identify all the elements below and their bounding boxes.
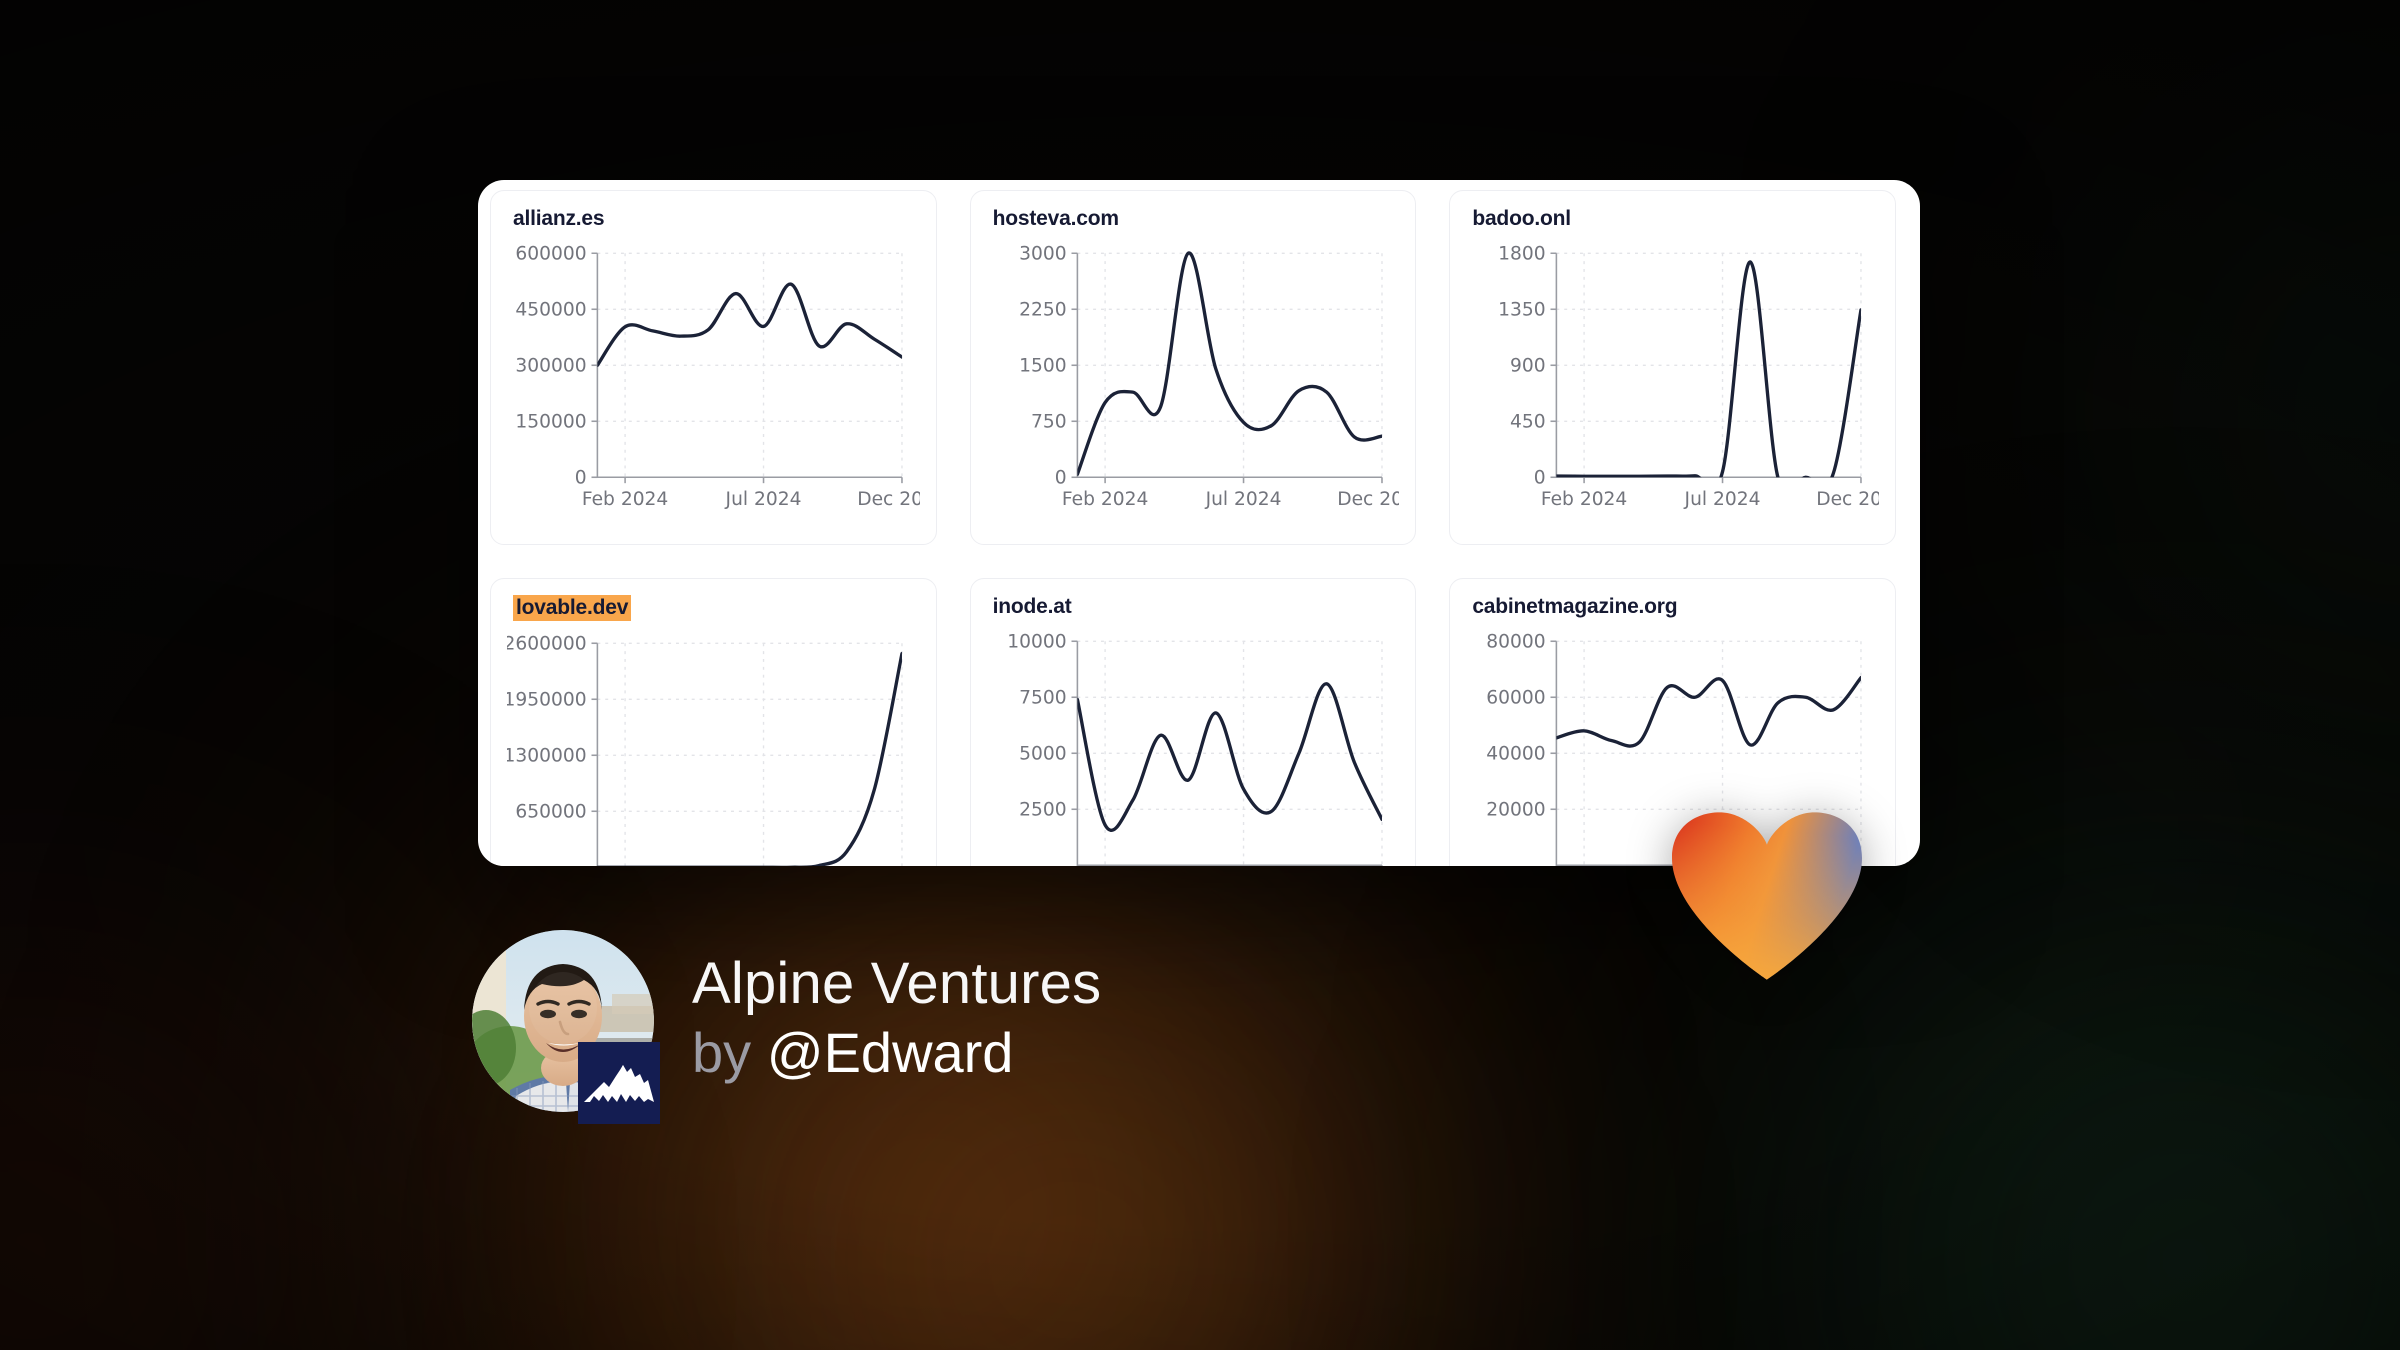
svg-text:1800: 1800 [1498, 244, 1545, 265]
svg-text:900: 900 [1510, 356, 1546, 377]
svg-text:1300000: 1300000 [507, 746, 587, 767]
svg-text:Dec 2024: Dec 2024 [1817, 489, 1879, 510]
svg-text:Jul 2024: Jul 2024 [725, 489, 802, 510]
svg-text:600000: 600000 [515, 244, 586, 265]
svg-text:20000: 20000 [1487, 800, 1546, 821]
svg-text:0: 0 [1054, 468, 1066, 489]
svg-text:2600000: 2600000 [507, 634, 587, 655]
chart-plot-hosteva-com: 0750150022503000Feb 2024Jul 2024Dec 2024 [987, 237, 1400, 523]
mountain-icon [582, 1058, 656, 1108]
svg-text:Feb 2024: Feb 2024 [582, 489, 668, 510]
svg-text:7500: 7500 [1019, 688, 1066, 709]
chart-plot-allianz-es: 0150000300000450000600000Feb 2024Jul 202… [507, 237, 920, 523]
chart-panel-inode-at[interactable]: inode.at25005000750010000Feb 2024Jul 202… [970, 578, 1417, 866]
svg-text:10000: 10000 [1007, 632, 1066, 653]
chart-title-badoo-onl: badoo.onl [1472, 207, 1571, 231]
by-label: by [692, 1021, 751, 1084]
chart-title-lovable-dev: lovable.dev [513, 595, 631, 621]
svg-text:Dec 2024: Dec 2024 [1337, 489, 1399, 510]
avatar [472, 930, 654, 1112]
svg-text:450: 450 [1510, 412, 1546, 433]
chart-plot-lovable-dev: 650000130000019500002600000Feb 2024Jul 2… [507, 627, 920, 866]
svg-text:40000: 40000 [1487, 744, 1546, 765]
author-handle: @Edward [767, 1021, 1014, 1084]
svg-text:2250: 2250 [1019, 300, 1066, 321]
svg-text:Jul 2024: Jul 2024 [1204, 489, 1281, 510]
chart-panel-lovable-dev[interactable]: lovable.dev650000130000019500002600000Fe… [490, 578, 937, 866]
svg-text:1500: 1500 [1019, 356, 1066, 377]
svg-text:650000: 650000 [515, 802, 586, 823]
brand-text: Alpine Ventures by @Edward [692, 950, 1101, 1092]
svg-text:3000: 3000 [1019, 244, 1066, 265]
page-title: Alpine Ventures [692, 950, 1101, 1017]
svg-text:150000: 150000 [515, 412, 586, 433]
chart-title-hosteva-com: hosteva.com [993, 207, 1119, 231]
svg-text:750: 750 [1031, 412, 1067, 433]
svg-text:60000: 60000 [1487, 688, 1546, 709]
svg-text:5000: 5000 [1019, 744, 1066, 765]
svg-text:80000: 80000 [1487, 632, 1546, 653]
svg-text:300000: 300000 [515, 356, 586, 377]
dashboard-card: allianz.es0150000300000450000600000Feb 2… [478, 180, 1920, 866]
branding: Alpine Ventures by @Edward [472, 930, 1101, 1112]
heart-icon [1672, 812, 1862, 980]
byline: by @Edward [692, 1021, 1101, 1086]
chart-plot-inode-at: 25005000750010000Feb 2024Jul 2024Dec 202… [987, 625, 1400, 866]
chart-grid: allianz.es0150000300000450000600000Feb 2… [478, 180, 1920, 866]
svg-text:450000: 450000 [515, 300, 586, 321]
svg-text:1350: 1350 [1498, 300, 1545, 321]
svg-text:Jul 2024: Jul 2024 [1684, 489, 1761, 510]
chart-plot-badoo-onl: 045090013501800Feb 2024Jul 2024Dec 2024 [1466, 237, 1879, 523]
chart-panel-badoo-onl[interactable]: badoo.onl045090013501800Feb 2024Jul 2024… [1449, 190, 1896, 545]
chart-title-inode-at: inode.at [993, 595, 1072, 619]
svg-text:Feb 2024: Feb 2024 [1062, 489, 1148, 510]
svg-text:0: 0 [575, 468, 587, 489]
svg-text:1950000: 1950000 [507, 690, 587, 711]
chart-title-allianz-es: allianz.es [513, 207, 604, 231]
chart-panel-hosteva-com[interactable]: hosteva.com0750150022503000Feb 2024Jul 2… [970, 190, 1417, 545]
chart-panel-allianz-es[interactable]: allianz.es0150000300000450000600000Feb 2… [490, 190, 937, 545]
chart-title-cabinetmagazine-org: cabinetmagazine.org [1472, 595, 1677, 619]
mountain-logo-badge [578, 1042, 660, 1124]
svg-text:Dec 2024: Dec 2024 [857, 489, 919, 510]
svg-text:2500: 2500 [1019, 800, 1066, 821]
svg-text:0: 0 [1534, 468, 1546, 489]
svg-text:Feb 2024: Feb 2024 [1541, 489, 1627, 510]
